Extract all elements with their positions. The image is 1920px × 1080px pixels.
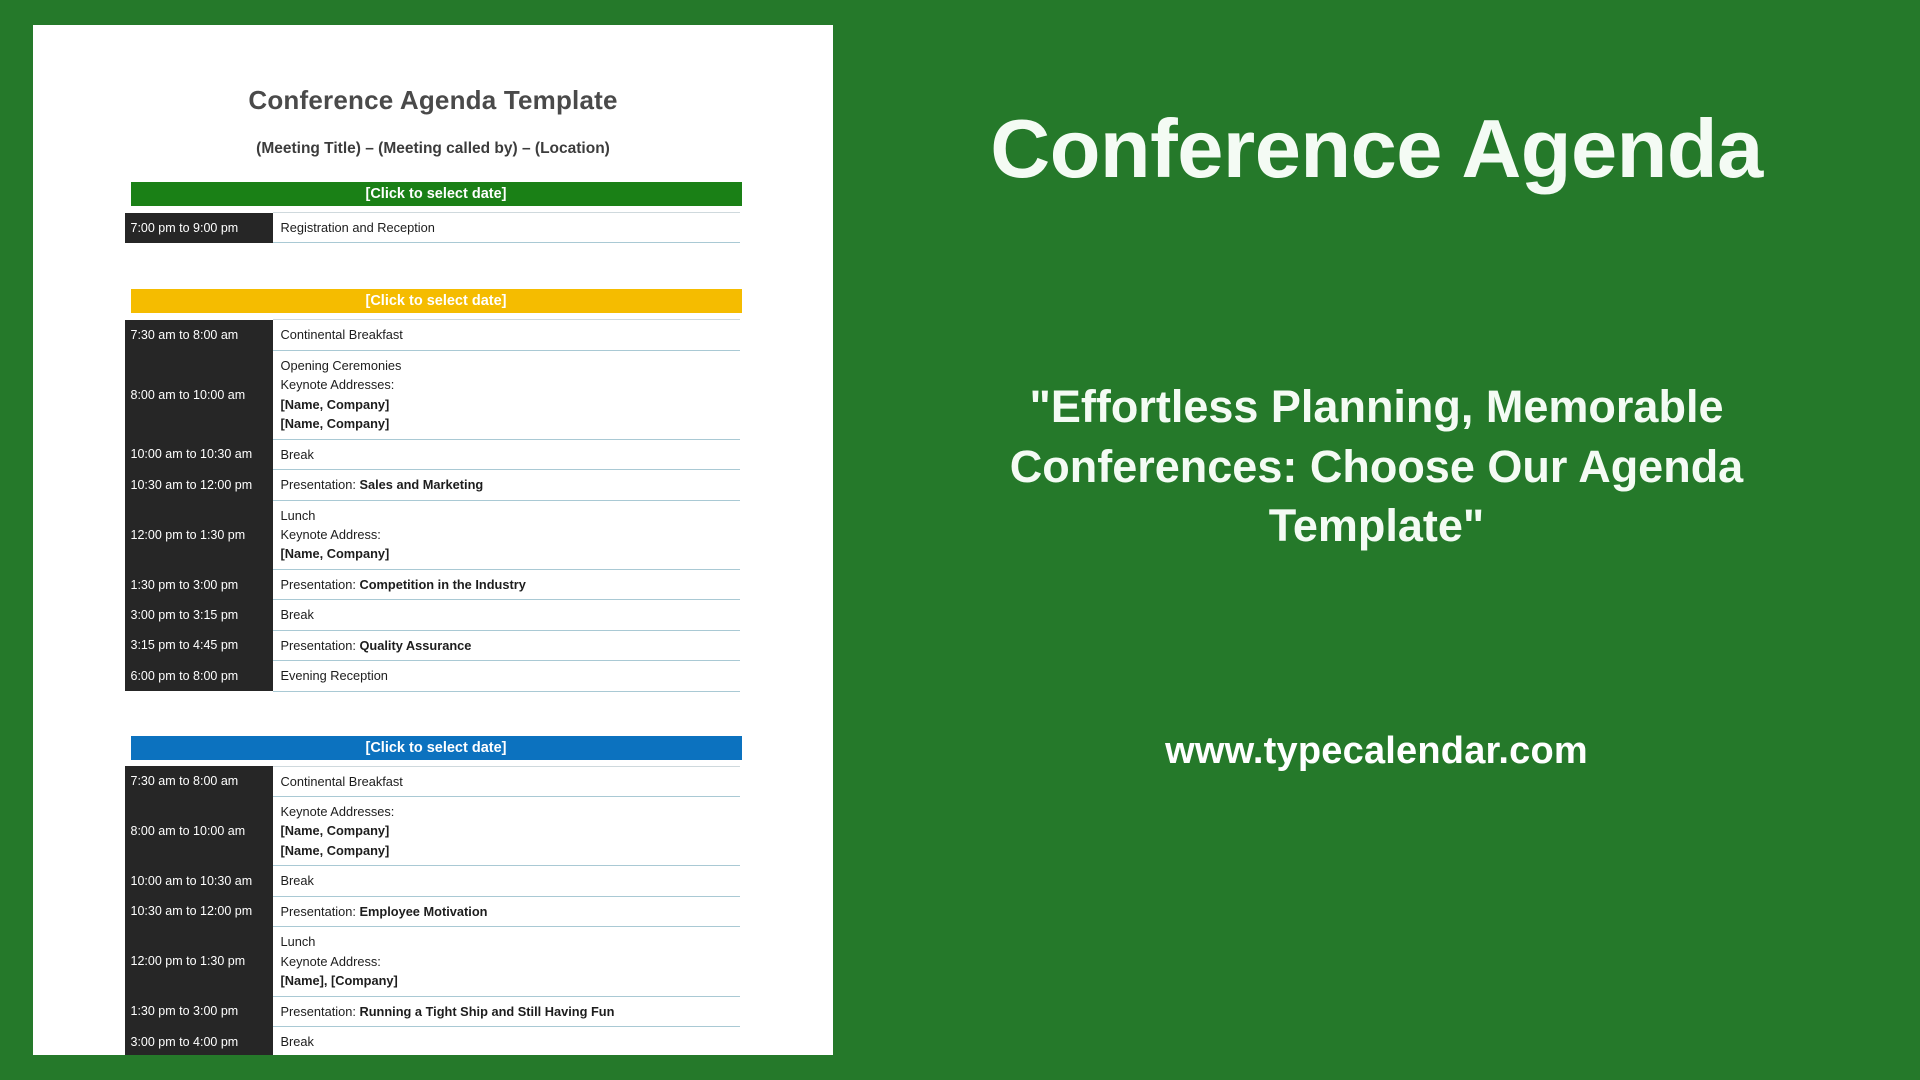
agenda-line-text: Running a Tight Ship and Still Having Fu… <box>359 1004 614 1019</box>
date-picker-header[interactable]: [Click to select date] <box>131 289 742 313</box>
agenda-description-line: Break <box>281 445 734 464</box>
agenda-description-line: Presentation: Sales and Marketing <box>281 475 734 494</box>
agenda-description-line: Lunch <box>281 506 734 525</box>
table-row: 3:00 pm to 3:15 pmBreak <box>125 600 740 630</box>
agenda-description-line: Continental Breakfast <box>281 325 734 344</box>
table-row: 1:30 pm to 3:00 pmPresentation: Running … <box>125 996 740 1026</box>
agenda-time-cell: 12:00 pm to 1:30 pm <box>125 500 273 569</box>
agenda-description-cell: Keynote Addresses:[Name, Company][Name, … <box>273 797 740 866</box>
agenda-line-text: Keynote Address: <box>281 527 381 542</box>
page-title: Conference Agenda Template <box>33 85 833 116</box>
table-row: 7:00 pm to 9:00 pmRegistration and Recep… <box>125 213 740 243</box>
agenda-description-line: [Name], [Company] <box>281 971 734 990</box>
agenda-line-text: Competition in the Industry <box>359 577 525 592</box>
agenda-line-text: [Name, Company] <box>281 843 390 858</box>
table-row: 12:00 pm to 1:30 pmLunchKeynote Address:… <box>125 500 740 569</box>
promo-website-url[interactable]: www.typecalendar.com <box>1165 730 1588 773</box>
agenda-line-text: Keynote Addresses: <box>281 804 395 819</box>
agenda-line-text: Sales and Marketing <box>359 477 483 492</box>
agenda-description-line: Keynote Addresses: <box>281 802 734 821</box>
agenda-description-line: Presentation: Competition in the Industr… <box>281 575 734 594</box>
agenda-description-line: Opening Ceremonies <box>281 356 734 375</box>
agenda-time-cell: 10:30 am to 12:00 pm <box>125 896 273 926</box>
document-page: Conference Agenda Template (Meeting Titl… <box>33 25 833 1055</box>
agenda-time-cell: 10:00 am to 10:30 am <box>125 866 273 896</box>
agenda-description-cell: Presentation: Employee Motivation <box>273 896 740 926</box>
agenda-line-text: Break <box>281 607 314 622</box>
agenda-description-line: Break <box>281 871 734 890</box>
agenda-description-line: [Name, Company] <box>281 414 734 433</box>
table-row: 8:00 am to 10:00 amOpening CeremoniesKey… <box>125 350 740 439</box>
screenshot-canvas: Conference Agenda Template (Meeting Titl… <box>0 0 1920 1080</box>
agenda-description-cell: Continental Breakfast <box>273 766 740 796</box>
agenda-line-text: Keynote Addresses: <box>281 377 395 392</box>
agenda-description-line: Presentation: Running a Tight Ship and S… <box>281 1002 734 1021</box>
agenda-time-cell: 1:30 pm to 3:00 pm <box>125 569 273 599</box>
agenda-description-line: Keynote Addresses: <box>281 375 734 394</box>
agenda-line-text: Continental Breakfast <box>281 774 403 789</box>
agenda-time-cell: 12:00 pm to 1:30 pm <box>125 927 273 996</box>
agenda-description-cell: Break <box>273 866 740 896</box>
agenda-table: 7:30 am to 8:00 amContinental Breakfast8… <box>125 319 740 691</box>
table-row: 1:30 pm to 3:00 pmPresentation: Competit… <box>125 569 740 599</box>
agenda-time-cell: 3:00 pm to 4:00 pm <box>125 1026 273 1055</box>
agenda-line-text: Continental Breakfast <box>281 327 403 342</box>
agenda-time-cell: 10:00 am to 10:30 am <box>125 439 273 469</box>
agenda-description-cell: Opening CeremoniesKeynote Addresses:[Nam… <box>273 350 740 439</box>
agenda-description-cell: LunchKeynote Address:[Name, Company] <box>273 500 740 569</box>
agenda-description-cell: Presentation: Quality Assurance <box>273 630 740 660</box>
agenda-time-cell: 8:00 am to 10:00 am <box>125 797 273 866</box>
table-row: 7:30 am to 8:00 amContinental Breakfast <box>125 320 740 350</box>
agenda-description-cell: Presentation: Running a Tight Ship and S… <box>273 996 740 1026</box>
agenda-line-text: Break <box>281 447 314 462</box>
agenda-description-line: Break <box>281 605 734 624</box>
promo-tagline: "Effortless Planning, Memorable Conferen… <box>957 377 1797 555</box>
agenda-time-cell: 1:30 pm to 3:00 pm <box>125 996 273 1026</box>
promo-panel: Conference Agenda "Effortless Planning, … <box>833 0 1920 1080</box>
agenda-description-line: [Name, Company] <box>281 395 734 414</box>
agenda-line-prefix: Presentation: <box>281 1004 360 1019</box>
agenda-line-prefix: Presentation: <box>281 477 360 492</box>
agenda-description-cell: Break <box>273 439 740 469</box>
page-subtitle: (Meeting Title) – (Meeting called by) – … <box>33 140 833 158</box>
agenda-description-cell: Break <box>273 1026 740 1055</box>
agenda-line-text: Keynote Address: <box>281 954 381 969</box>
agenda-description-line: [Name, Company] <box>281 841 734 860</box>
agenda-time-cell: 8:00 am to 10:00 am <box>125 350 273 439</box>
agenda-line-text: Break <box>281 1034 314 1049</box>
agenda-time-cell: 7:30 am to 8:00 am <box>125 320 273 350</box>
table-row: 6:00 pm to 8:00 pmEvening Reception <box>125 661 740 691</box>
agenda-line-text: [Name, Company] <box>281 823 390 838</box>
table-row: 12:00 pm to 1:30 pmLunchKeynote Address:… <box>125 927 740 996</box>
agenda-line-text: [Name, Company] <box>281 416 390 431</box>
agenda-description-cell: Break <box>273 600 740 630</box>
table-row: 3:00 pm to 4:00 pmBreak <box>125 1026 740 1055</box>
agenda-time-cell: 3:15 pm to 4:45 pm <box>125 630 273 660</box>
agenda-sections: [Click to select date]7:00 pm to 9:00 pm… <box>33 182 833 1055</box>
agenda-line-prefix: Presentation: <box>281 904 360 919</box>
agenda-time-cell: 10:30 am to 12:00 pm <box>125 470 273 500</box>
agenda-time-cell: 6:00 pm to 8:00 pm <box>125 661 273 691</box>
agenda-line-text: Lunch <box>281 508 316 523</box>
agenda-description-cell: Registration and Reception <box>273 213 740 243</box>
table-row: 7:30 am to 8:00 amContinental Breakfast <box>125 766 740 796</box>
date-picker-header[interactable]: [Click to select date] <box>131 182 742 206</box>
table-row: 3:15 pm to 4:45 pmPresentation: Quality … <box>125 630 740 660</box>
promo-title: Conference Agenda <box>990 105 1762 192</box>
agenda-description-cell: LunchKeynote Address:[Name], [Company] <box>273 927 740 996</box>
agenda-description-line: Presentation: Employee Motivation <box>281 902 734 921</box>
agenda-table: 7:00 pm to 9:00 pmRegistration and Recep… <box>125 212 740 243</box>
agenda-line-text: [Name, Company] <box>281 397 390 412</box>
agenda-time-cell: 3:00 pm to 3:15 pm <box>125 600 273 630</box>
agenda-day-section: [Click to select date]7:30 am to 8:00 am… <box>125 289 742 691</box>
table-row: 10:30 am to 12:00 pmPresentation: Sales … <box>125 470 740 500</box>
agenda-description-cell: Presentation: Sales and Marketing <box>273 470 740 500</box>
agenda-description-cell: Evening Reception <box>273 661 740 691</box>
agenda-line-prefix: Presentation: <box>281 638 360 653</box>
agenda-day-section: [Click to select date]7:00 pm to 9:00 pm… <box>125 182 742 243</box>
agenda-line-prefix: Presentation: <box>281 577 360 592</box>
agenda-description-line: Presentation: Quality Assurance <box>281 636 734 655</box>
agenda-line-text: Employee Motivation <box>359 904 487 919</box>
agenda-description-line: Lunch <box>281 932 734 951</box>
agenda-day-section: [Click to select date]7:30 am to 8:00 am… <box>125 736 742 1055</box>
document-content: Conference Agenda Template (Meeting Titl… <box>33 25 833 1055</box>
agenda-description-cell: Continental Breakfast <box>273 320 740 350</box>
agenda-line-text: Evening Reception <box>281 668 388 683</box>
agenda-description-line: Break <box>281 1032 734 1051</box>
agenda-line-text: [Name, Company] <box>281 546 390 561</box>
agenda-description-cell: Presentation: Competition in the Industr… <box>273 569 740 599</box>
agenda-description-line: Evening Reception <box>281 666 734 685</box>
agenda-description-line: [Name, Company] <box>281 821 734 840</box>
agenda-description-line: Registration and Reception <box>281 218 734 237</box>
agenda-line-text: Opening Ceremonies <box>281 358 402 373</box>
agenda-line-text: Break <box>281 873 314 888</box>
agenda-table: 7:30 am to 8:00 amContinental Breakfast8… <box>125 766 740 1055</box>
agenda-line-text: Registration and Reception <box>281 220 435 235</box>
table-row: 10:00 am to 10:30 amBreak <box>125 439 740 469</box>
date-picker-header[interactable]: [Click to select date] <box>131 736 742 760</box>
agenda-description-line: [Name, Company] <box>281 544 734 563</box>
table-row: 8:00 am to 10:00 amKeynote Addresses:[Na… <box>125 797 740 866</box>
agenda-description-line: Continental Breakfast <box>281 772 734 791</box>
agenda-description-line: Keynote Address: <box>281 952 734 971</box>
agenda-line-text: Quality Assurance <box>359 638 471 653</box>
table-row: 10:00 am to 10:30 amBreak <box>125 866 740 896</box>
agenda-line-text: [Name], [Company] <box>281 973 398 988</box>
agenda-time-cell: 7:00 pm to 9:00 pm <box>125 213 273 243</box>
agenda-description-line: Keynote Address: <box>281 525 734 544</box>
agenda-time-cell: 7:30 am to 8:00 am <box>125 766 273 796</box>
agenda-line-text: Lunch <box>281 934 316 949</box>
table-row: 10:30 am to 12:00 pmPresentation: Employ… <box>125 896 740 926</box>
